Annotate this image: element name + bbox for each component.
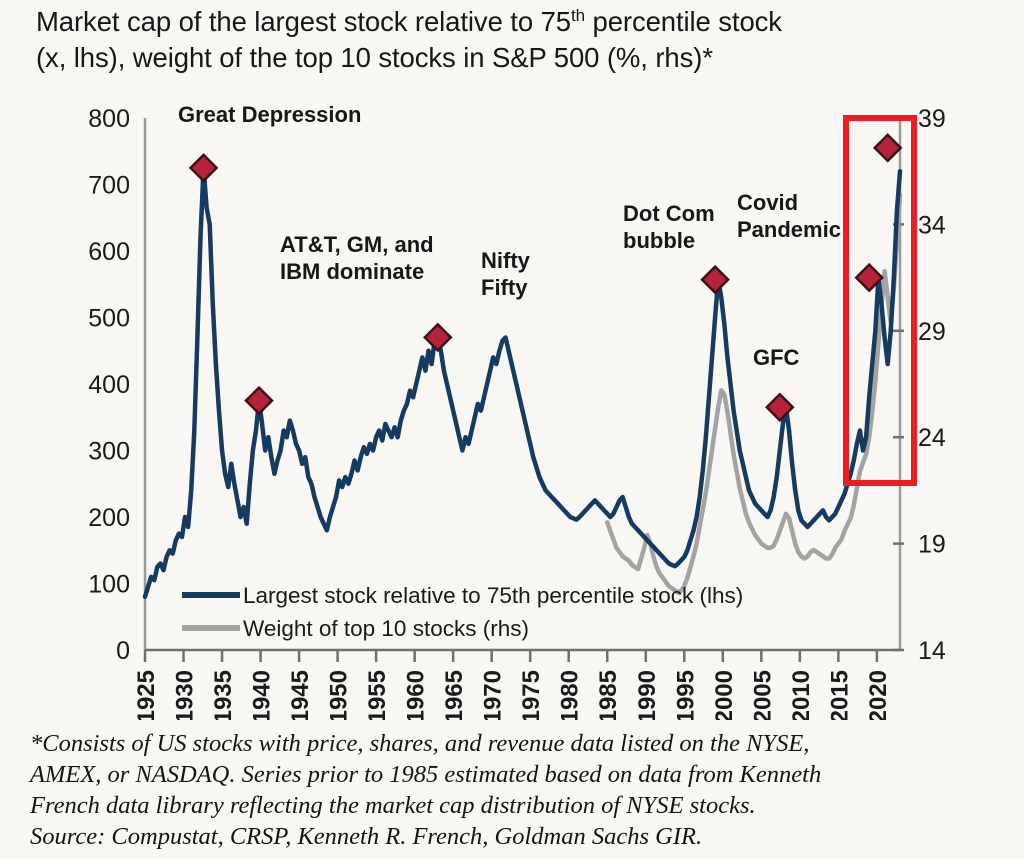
- x-axis-tick-1925: 1925: [133, 670, 160, 720]
- x-axis-tick-1950: 1950: [326, 670, 353, 720]
- annotation-covid-pandemic-line-2: Pandemic: [737, 217, 841, 242]
- right-axis-tick-19: 19: [918, 531, 946, 559]
- right-axis-tick-29: 29: [918, 318, 946, 346]
- x-axis-tick-1940: 1940: [249, 670, 276, 720]
- peak-marker-at-t-gm-and-ibm-dominate: [246, 388, 272, 414]
- x-axis-tick-1995: 1995: [672, 670, 699, 720]
- x-axis-tick-1965: 1965: [441, 670, 468, 720]
- left-axis-tick-0: 0: [116, 637, 130, 665]
- footnote-line-2: AMEX, or NASDAQ. Series prior to 1985 es…: [30, 759, 1015, 790]
- x-axis-tick-2000: 2000: [711, 670, 738, 720]
- legend-label-largest-stock: Largest stock relative to 75th percentil…: [243, 583, 743, 608]
- x-axis-tick-2005: 2005: [749, 670, 776, 720]
- annotation-nifty-fifty-line-1: Nifty: [481, 248, 531, 273]
- annotation-covid-pandemic-line-1: Covid: [737, 190, 798, 215]
- x-axis-tick-2010: 2010: [788, 670, 815, 720]
- right-axis-tick-labels: 141924293439: [918, 105, 946, 665]
- x-axis-tick-1955: 1955: [364, 670, 391, 720]
- x-axis-tick-1985: 1985: [595, 670, 622, 720]
- x-axis-tick-1970: 1970: [480, 670, 507, 720]
- x-axis-tick-2015: 2015: [826, 670, 853, 720]
- right-axis-tick-24: 24: [918, 424, 946, 452]
- x-axis-tick-1930: 1930: [172, 670, 199, 720]
- footnote: *Consists of US stocks with price, share…: [30, 728, 1015, 852]
- series-line-weight-top10: [607, 195, 900, 593]
- title-line-1-part-a: Market cap of the largest stock relative…: [36, 6, 571, 37]
- footnote-line-4: Source: Compustat, CRSP, Kenneth R. Fren…: [30, 821, 1015, 852]
- annotation-dot-com-bubble-line-2: bubble: [623, 228, 695, 253]
- x-axis-tick-1975: 1975: [518, 670, 545, 720]
- x-axis-tick-1935: 1935: [210, 670, 237, 720]
- annotation-dot-com-bubble-line-1: Dot Com: [623, 201, 715, 226]
- x-axis-tick-labels: 1925193019351940194519501955196019651970…: [133, 670, 892, 720]
- annotation-at-t-gm-and-ibm-dominate-line-2: IBM dominate: [280, 259, 424, 284]
- right-axis-tick-14: 14: [918, 637, 946, 665]
- annotation-gfc: GFC: [753, 345, 800, 370]
- title-superscript-th: th: [571, 6, 585, 25]
- peak-marker-nifty-fifty: [425, 324, 451, 350]
- x-axis-tick-1990: 1990: [634, 670, 661, 720]
- left-axis-tick-600: 600: [88, 238, 130, 266]
- page-title: Market cap of the largest stock relative…: [36, 4, 1011, 76]
- legend-label-weight-top10: Weight of top 10 stocks (rhs): [243, 616, 529, 641]
- peak-marker-dot-com-bubble: [702, 267, 728, 293]
- peak-marker-great-depression: [191, 155, 217, 181]
- left-axis-tick-400: 400: [88, 371, 130, 399]
- x-axis-ticks: [145, 650, 877, 662]
- chart-page: Market cap of the largest stock relative…: [0, 0, 1024, 859]
- right-axis-tick-34: 34: [918, 211, 946, 239]
- title-line-2: (x, lhs), weight of the top 10 stocks in…: [36, 42, 713, 73]
- left-axis-tick-500: 500: [88, 305, 130, 333]
- x-axis-tick-1945: 1945: [287, 670, 314, 720]
- peak-marker-peak-6: [875, 135, 901, 161]
- left-axis-tick-800: 800: [88, 105, 130, 133]
- annotation-great-depression: Great Depression: [178, 102, 361, 127]
- left-axis-tick-700: 700: [88, 172, 130, 200]
- left-axis-tick-100: 100: [88, 571, 130, 599]
- footnote-line-1: *Consists of US stocks with price, share…: [30, 728, 1015, 759]
- title-line-1-part-b: percentile stock: [585, 6, 782, 37]
- left-axis-tick-200: 200: [88, 504, 130, 532]
- left-axis-tick-labels: 0100200300400500600700800: [88, 105, 130, 665]
- annotation-nifty-fifty-line-2: Fifty: [481, 275, 528, 300]
- chart-plot-area: 0100200300400500600700800 141924293439 1…: [0, 100, 1024, 720]
- x-axis-tick-1960: 1960: [403, 670, 430, 720]
- footnote-line-3: French data library reflecting the marke…: [30, 790, 1015, 821]
- x-axis-tick-2020: 2020: [865, 670, 892, 720]
- x-axis-tick-1980: 1980: [557, 670, 584, 720]
- annotations-group: Great DepressionAT&T, GM, andIBM dominat…: [178, 102, 841, 370]
- chart-svg: 0100200300400500600700800 141924293439 1…: [0, 100, 1024, 720]
- annotation-at-t-gm-and-ibm-dominate-line-1: AT&T, GM, and: [280, 232, 434, 257]
- left-axis-tick-300: 300: [88, 438, 130, 466]
- right-axis-tick-39: 39: [918, 105, 946, 133]
- chart-legend: Largest stock relative to 75th percentil…: [182, 583, 743, 641]
